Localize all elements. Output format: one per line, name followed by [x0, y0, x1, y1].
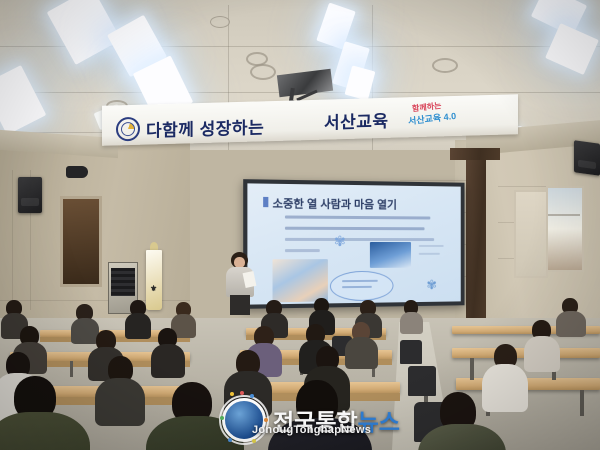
- slide-title: 소중한 열 사람과 마음 열기: [273, 195, 397, 212]
- watermark-english: JonougTonghapNews: [252, 424, 371, 436]
- projection-screen: 소중한 열 사람과 마음 열기 ✾ ✾: [247, 183, 460, 304]
- wall-projector: [66, 166, 88, 178]
- wall-column: [466, 150, 486, 330]
- banner-text-right: 서산교육: [324, 107, 389, 134]
- slide-image-left: [273, 259, 328, 302]
- presenter-lower-body: [230, 295, 250, 315]
- ceiling-vent-icon: [210, 16, 230, 28]
- slide-image-right: [370, 242, 411, 268]
- presenter: [222, 252, 262, 314]
- banner-emblem-icon: [116, 117, 140, 142]
- presenter-handout: [243, 271, 257, 288]
- desk-row: [456, 378, 600, 390]
- slide-title-bullet-icon: [263, 197, 268, 207]
- speaker-left: [18, 177, 42, 213]
- flag-emblem: ⚜: [150, 284, 157, 293]
- window-panel: [514, 190, 548, 278]
- photo-scene: ⚜ 다함께 성장하는 서산교육 함께하는 서산교육 4.0 소중한 열 사람과 …: [0, 0, 600, 450]
- ceiling-ring-icon: [432, 58, 458, 73]
- chair: [408, 366, 436, 396]
- ceiling-ring-icon: [250, 64, 276, 80]
- door-frame-top: [450, 148, 500, 160]
- slide-flower-icon: ✾: [334, 233, 346, 250]
- speaker-right: [574, 140, 600, 176]
- chair: [400, 340, 422, 364]
- slide-flower-icon: ✾: [426, 277, 436, 293]
- left-window: [60, 196, 102, 287]
- window: [546, 186, 584, 272]
- globe-dots-decoration: [218, 392, 270, 444]
- organization-flag: [146, 250, 162, 310]
- banner-text-left: 다함께 성장하는: [146, 113, 264, 141]
